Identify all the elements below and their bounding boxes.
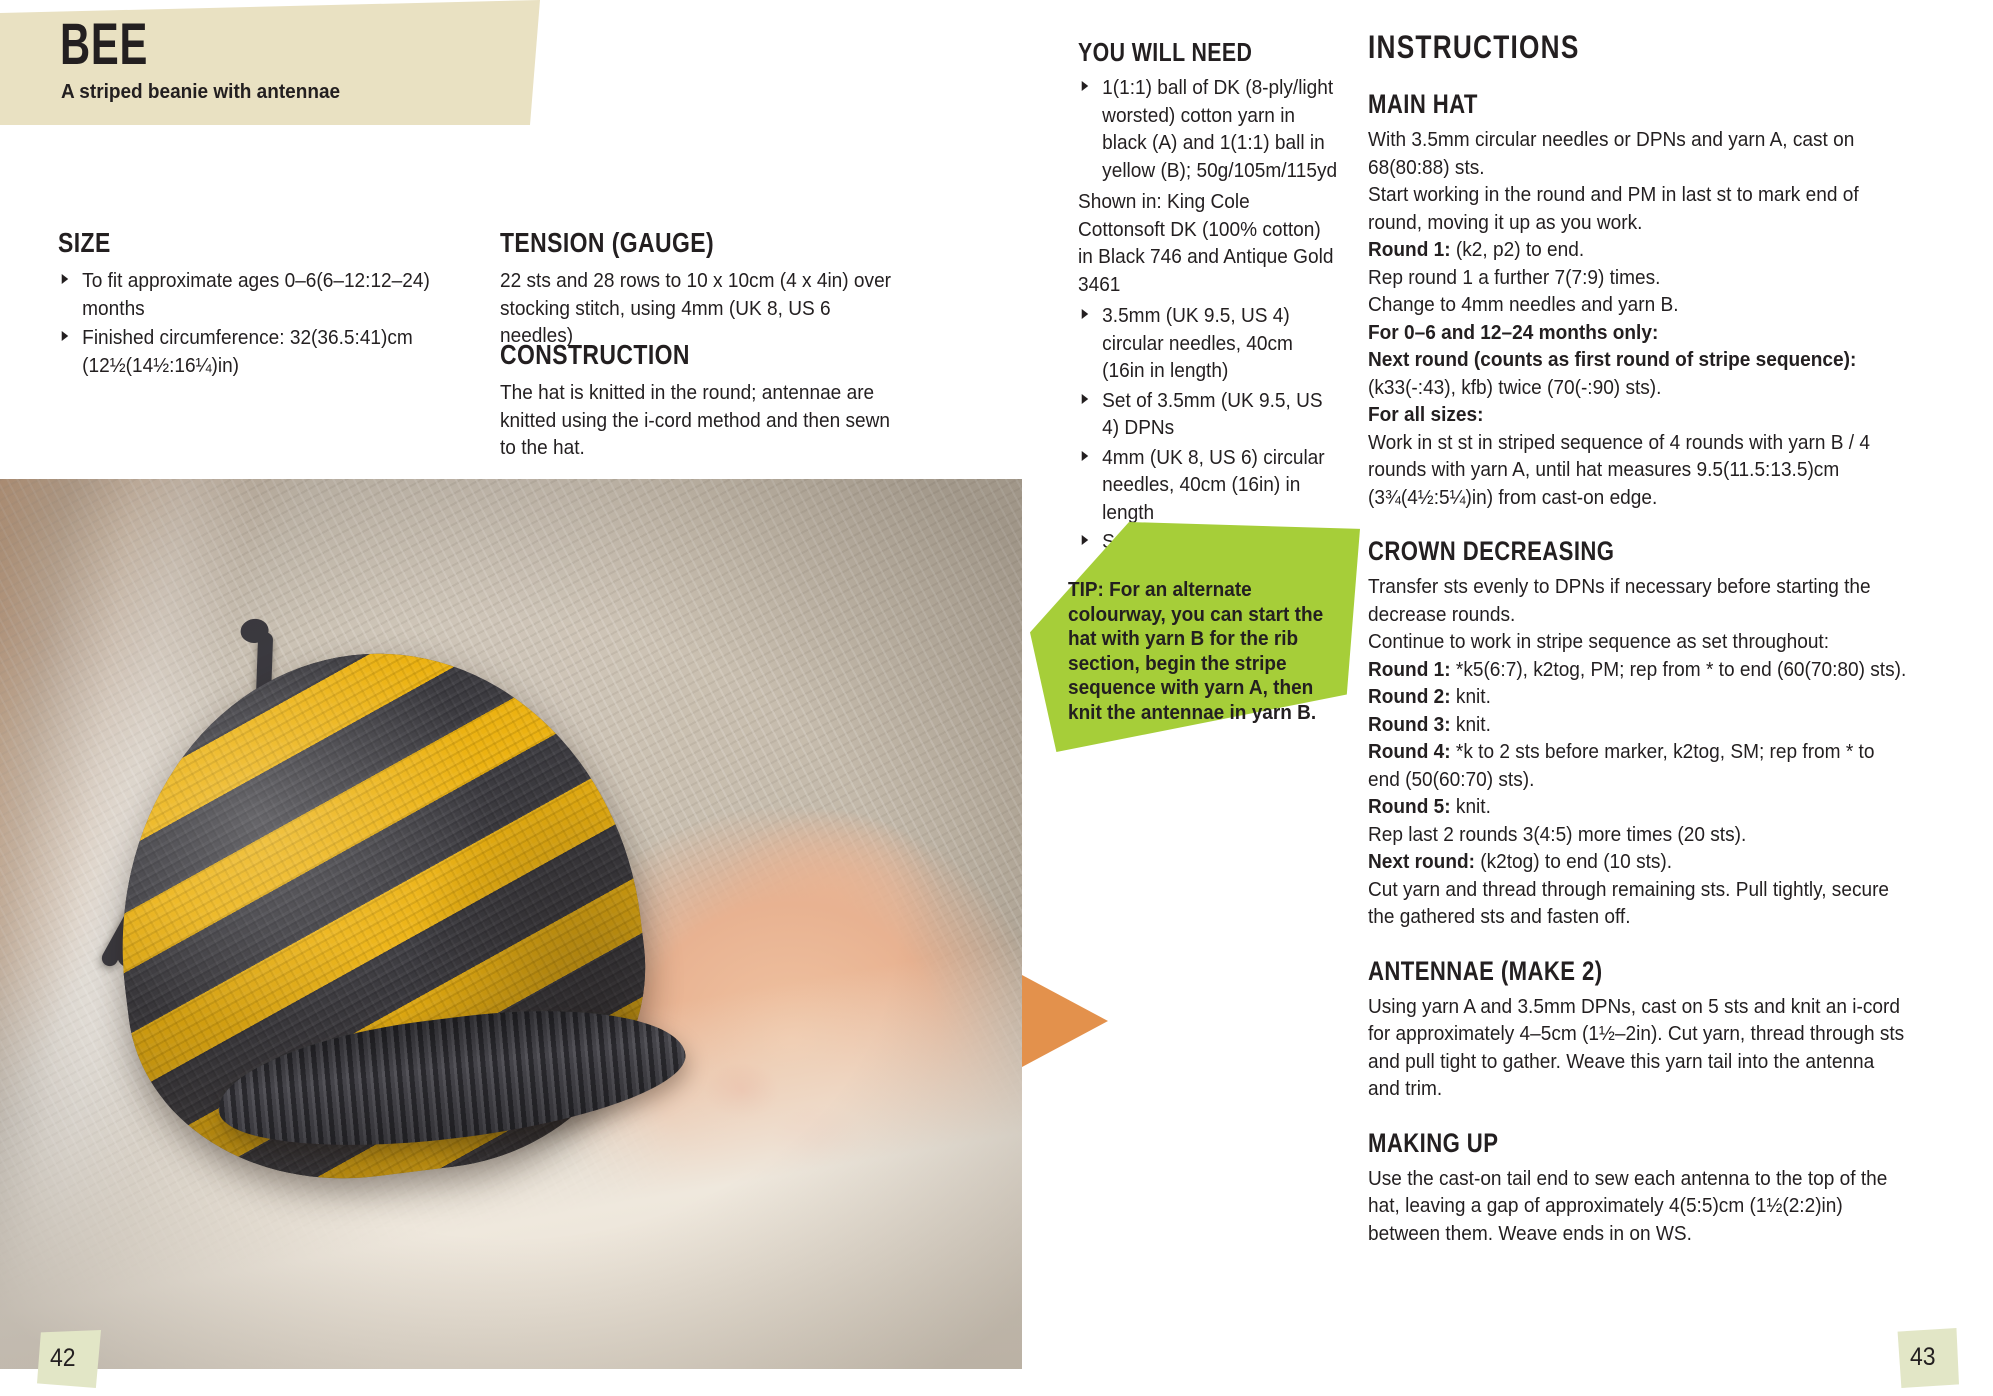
main-hat-text: With 3.5mm circular needles or DPNs and … — [1368, 126, 1907, 511]
bullet-icon — [1082, 535, 1089, 545]
bullet-icon — [1082, 81, 1089, 91]
instructions-heading: INSTRUCTIONS — [1368, 30, 1844, 64]
list-item: 3.5mm (UK 9.5, US 4) circular needles, 4… — [1078, 302, 1338, 385]
page-number-left: 42 — [37, 1330, 101, 1388]
size-list: To fit approximate ages 0–6(6–12:12–24) … — [58, 267, 468, 379]
list-item: Set of 3.5mm (UK 9.5, US 4) DPNs — [1078, 387, 1338, 442]
construction-heading: CONSTRUCTION — [500, 340, 853, 370]
bullet-icon — [1082, 394, 1089, 404]
supply-item-text: 3.5mm (UK 9.5, US 4) circular needles, 4… — [1102, 304, 1293, 382]
instructions-section: INSTRUCTIONS MAIN HAT With 3.5mm circula… — [1368, 30, 1948, 1247]
crown-decreasing-text: Transfer sts evenly to DPNs if necessary… — [1368, 573, 1907, 931]
tip-label: TIP: — [1068, 579, 1104, 601]
bullet-icon — [62, 274, 69, 284]
you-will-need-heading: YOU WILL NEED — [1078, 38, 1308, 66]
shown-in-note: Shown in: King Cole Cottonsoft DK (100% … — [1078, 188, 1338, 298]
list-item: 1(1:1) ball of DK (8-ply/light worsted) … — [1078, 74, 1338, 184]
crown-decreasing-heading: CROWN DECREASING — [1368, 537, 1844, 566]
tip-body: For an alternate colourway, you can star… — [1068, 579, 1323, 724]
tension-heading: TENSION (GAUGE) — [500, 228, 853, 258]
main-hat-heading: MAIN HAT — [1368, 90, 1844, 119]
construction-text: The hat is knitted in the round; antenna… — [500, 379, 900, 462]
supply-item-text: Set of 3.5mm (UK 9.5, US 4) DPNs — [1102, 389, 1322, 440]
antennae-text: Using yarn A and 3.5mm DPNs, cast on 5 s… — [1368, 993, 1907, 1103]
size-item-text: To fit approximate ages 0–6(6–12:12–24) … — [82, 269, 430, 320]
making-up-heading: MAKING UP — [1368, 1129, 1844, 1158]
tip-callout-text: TIP: For an alternate colourway, you can… — [1068, 578, 1326, 725]
photo-vignette — [0, 479, 1022, 1369]
page-title: BEE — [60, 16, 148, 74]
size-section: SIZE To fit approximate ages 0–6(6–12:12… — [58, 228, 468, 381]
list-item: 4mm (UK 8, US 6) circular needles, 40cm … — [1078, 444, 1338, 527]
yarn-item-text: 1(1:1) ball of DK (8-ply/light worsted) … — [1102, 76, 1337, 182]
page-number-right-text: 43 — [1910, 1343, 1936, 1372]
size-item-text: Finished circumference: 32(36.5:41)cm (1… — [82, 326, 413, 377]
pattern-spread: BEE A striped beanie with antennae SIZE … — [0, 0, 1993, 1396]
construction-section: CONSTRUCTION The hat is knitted in the r… — [500, 340, 930, 462]
bullet-icon — [1082, 451, 1089, 461]
tension-text: 22 sts and 28 rows to 10 x 10cm (4 x 4in… — [500, 267, 900, 350]
page-number-right: 43 — [1895, 1328, 1959, 1388]
orange-arrow-icon — [1022, 975, 1108, 1067]
making-up-text: Use the cast-on tail end to sew each ant… — [1368, 1165, 1907, 1248]
page-subtitle: A striped beanie with antennae — [61, 81, 340, 104]
tension-section: TENSION (GAUGE) 22 sts and 28 rows to 10… — [500, 228, 930, 350]
supply-item-text: 4mm (UK 8, US 6) circular needles, 40cm … — [1102, 446, 1324, 524]
bullet-icon — [62, 331, 69, 341]
project-photograph — [0, 479, 1022, 1369]
title-banner: BEE A striped beanie with antennae — [0, 0, 540, 125]
page-number-left-text: 42 — [50, 1344, 76, 1373]
antennae-heading: ANTENNAE (MAKE 2) — [1368, 957, 1844, 986]
list-item: Finished circumference: 32(36.5:41)cm (1… — [58, 324, 439, 379]
yarn-list: 1(1:1) ball of DK (8-ply/light worsted) … — [1078, 74, 1358, 184]
list-item: To fit approximate ages 0–6(6–12:12–24) … — [58, 267, 439, 322]
bullet-icon — [1082, 309, 1089, 319]
size-heading: SIZE — [58, 228, 394, 258]
